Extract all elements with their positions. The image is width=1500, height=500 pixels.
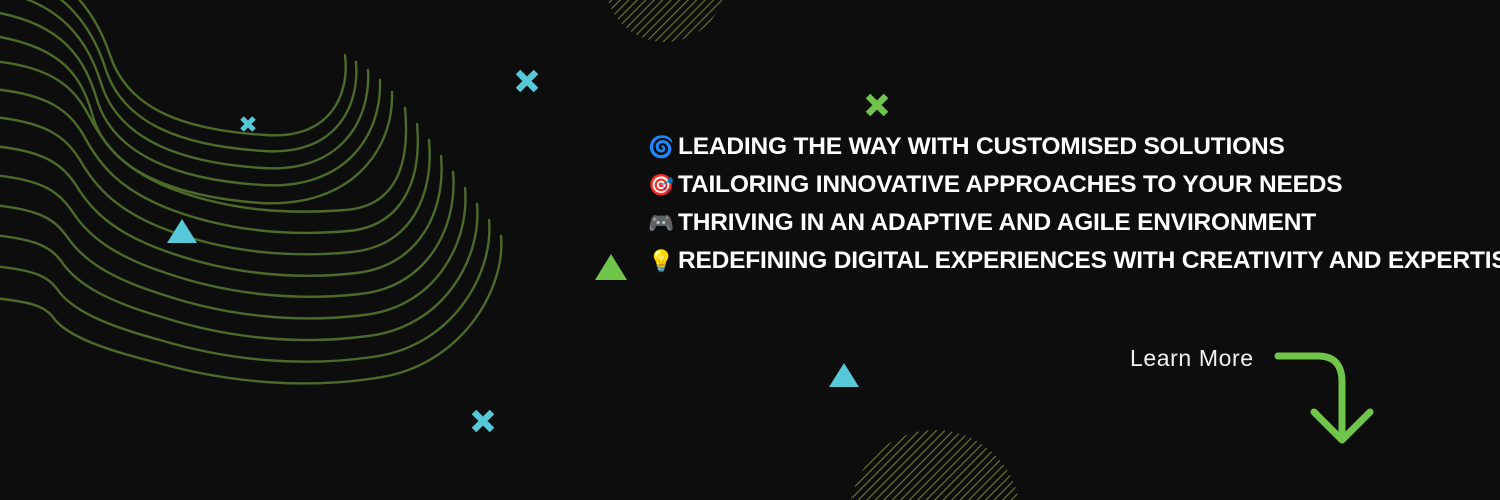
headline-item: 🎮 THRIVING IN AN ADAPTIVE AND AGILE ENVI… [648,204,1488,242]
wave-lines [0,0,501,383]
game-controller-icon: 🎮 [648,213,678,234]
triangle-cyan-wave [166,217,198,245]
curved-down-arrow-icon[interactable] [1270,342,1380,457]
x-mark-cyan-top [512,66,542,96]
triangle-green-mid [594,252,628,282]
headline-text: TAILORING INNOVATIVE APPROACHES TO YOUR … [678,173,1342,198]
headline-text: LEADING THE WAY WITH CUSTOMISED SOLUTION… [678,135,1285,160]
x-mark-cyan-small [237,113,259,135]
hatched-circle-top [605,0,725,42]
headline-item: 💡 REDEFINING DIGITAL EXPERIENCES WITH CR… [648,242,1488,280]
headline-text: THRIVING IN AN ADAPTIVE AND AGILE ENVIRO… [678,211,1316,236]
dart-target-icon: 🎯 [648,175,678,196]
headline-item: 🎯 TAILORING INNOVATIVE APPROACHES TO YOU… [648,166,1488,204]
learn-more-cta[interactable]: Learn More [1130,342,1380,457]
cyclone-icon: 🌀 [648,137,678,158]
headline-list: 🌀 LEADING THE WAY WITH CUSTOMISED SOLUTI… [648,128,1488,280]
x-mark-green-top [862,90,892,120]
promo-banner: 🌀 LEADING THE WAY WITH CUSTOMISED SOLUTI… [0,0,1500,500]
headline-item: 🌀 LEADING THE WAY WITH CUSTOMISED SOLUTI… [648,128,1488,166]
hatched-circle-bottom [850,430,1020,500]
headline-text: REDEFINING DIGITAL EXPERIENCES WITH CREA… [678,249,1500,274]
light-bulb-icon: 💡 [648,251,678,272]
triangle-cyan-low [828,361,860,389]
x-mark-cyan-bottom [468,406,498,436]
learn-more-label[interactable]: Learn More [1130,342,1254,370]
